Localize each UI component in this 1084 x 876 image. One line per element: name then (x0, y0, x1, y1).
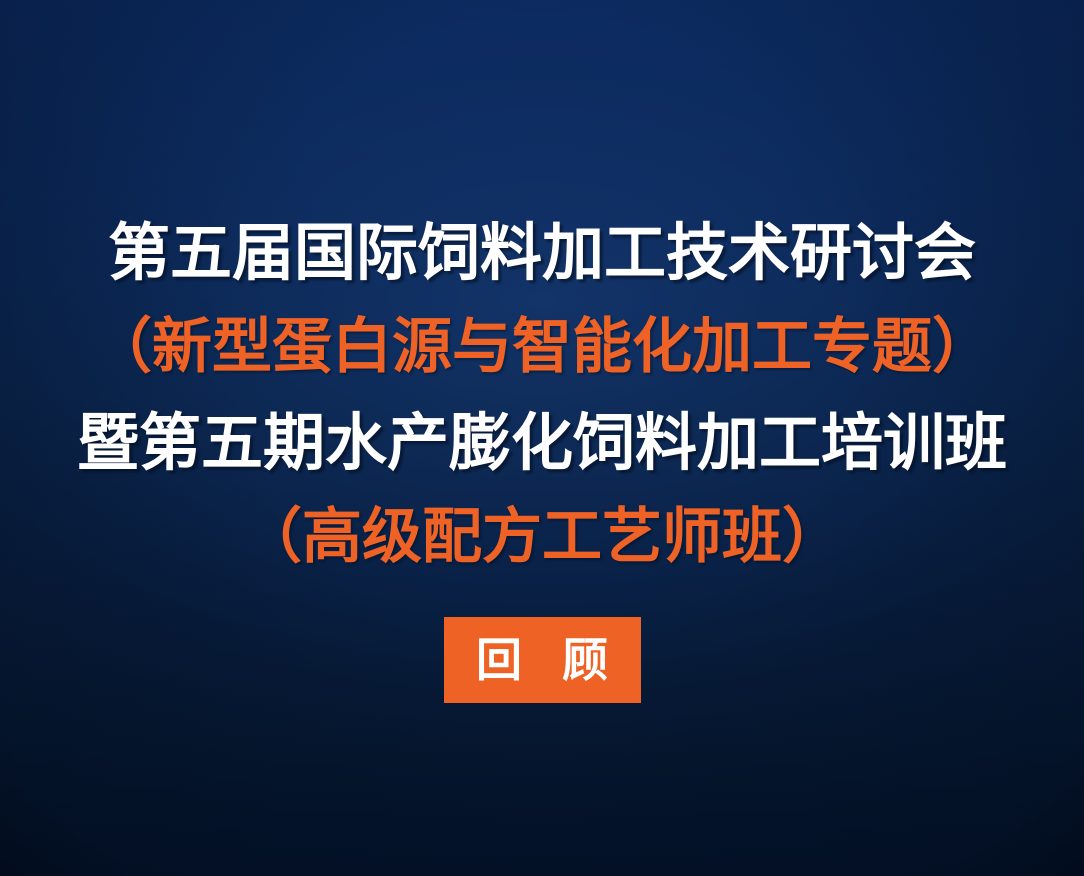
poster-subtitle-line-2: （高级配方工艺师班） (242, 490, 842, 585)
cta-container: 回 顾 (0, 617, 1084, 703)
poster-content: 第五届国际饲料加工技术研讨会 （新型蛋白源与智能化加工专题） 暨第五期水产膨化饲… (0, 0, 1084, 876)
poster-title-line-2: 暨第五期水产膨化饲料加工培训班 (77, 395, 1007, 490)
poster-banner: 第五届国际饲料加工技术研讨会 （新型蛋白源与智能化加工专题） 暨第五期水产膨化饲… (0, 0, 1084, 876)
review-button-label: 回 顾 (464, 637, 620, 683)
poster-title-line-1: 第五届国际饲料加工技术研讨会 (108, 205, 976, 300)
poster-subtitle-line-1: （新型蛋白源与智能化加工专题） (92, 300, 992, 395)
review-button[interactable]: 回 顾 (444, 617, 641, 703)
